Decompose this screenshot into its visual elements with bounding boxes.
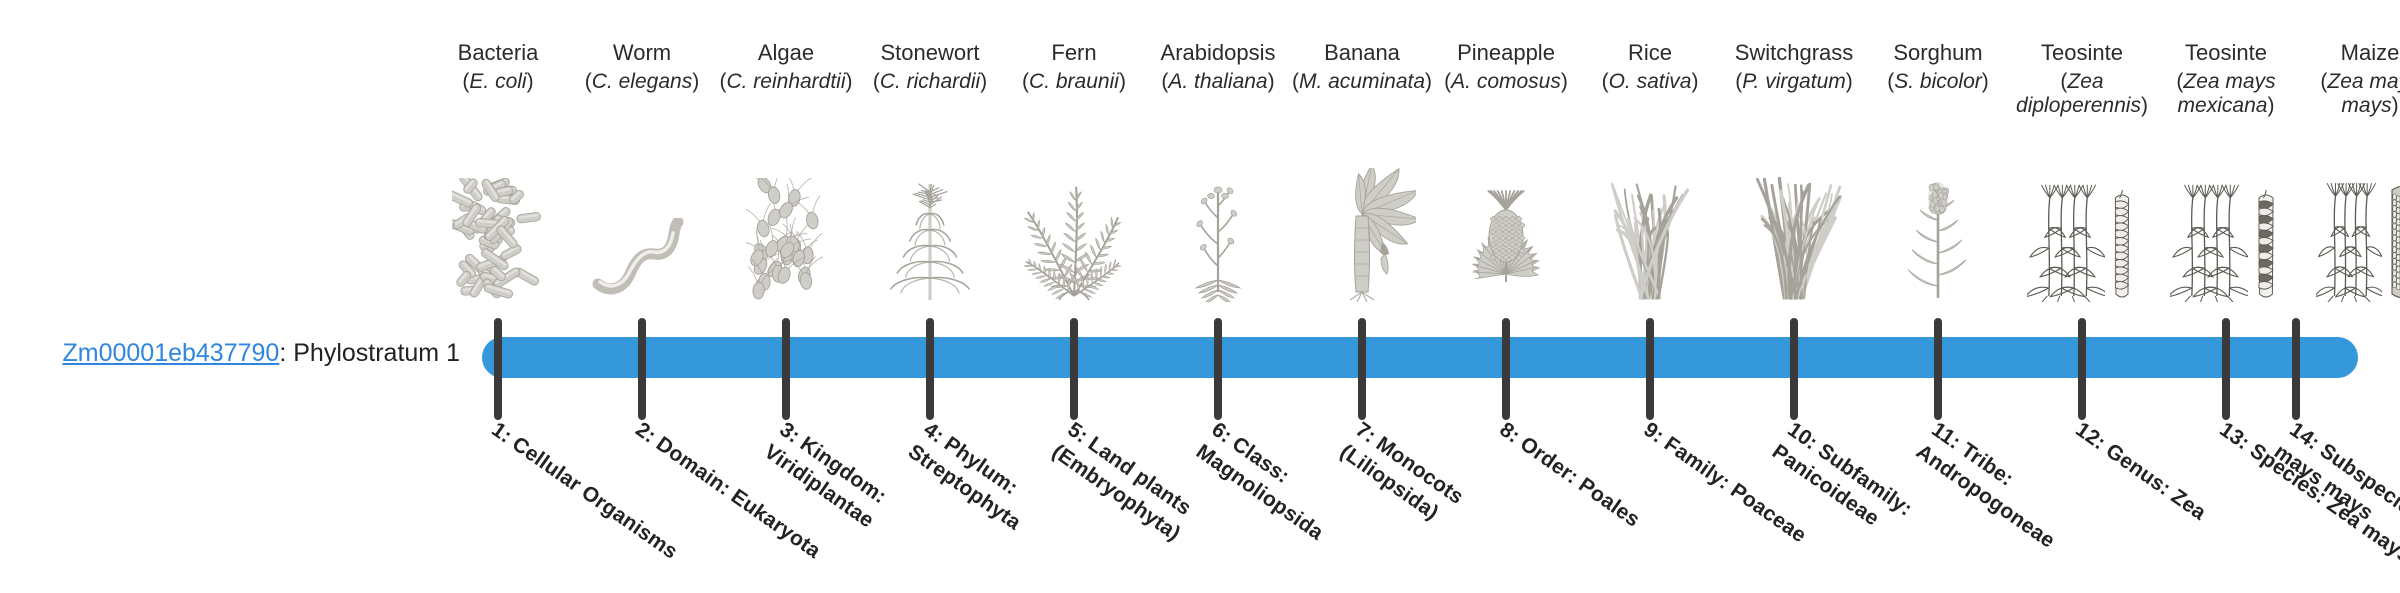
species-common-name: Maize bbox=[2298, 40, 2400, 65]
species-common-name: Pineapple bbox=[1434, 40, 1578, 65]
species-common-name: Switchgrass bbox=[1722, 40, 1866, 65]
species-scientific-name: (P. virgatum) bbox=[1722, 70, 1866, 94]
arabidopsis-rosette-icon bbox=[1146, 162, 1290, 302]
species-scientific-name-text: C. elegans bbox=[592, 70, 692, 93]
species-common-name: Stonewort bbox=[858, 40, 1002, 65]
species-scientific-name-text: S. bicolor bbox=[1894, 70, 1982, 93]
bacteria-rods-icon bbox=[426, 162, 570, 302]
stonewort-whorl-icon bbox=[858, 162, 1002, 302]
species-scientific-name-text: C. richardii bbox=[880, 70, 980, 93]
species-common-name: Worm bbox=[570, 40, 714, 65]
species-scientific-name-text: E. coli bbox=[469, 70, 526, 93]
timeline-node-9: Rice(O. sativa) bbox=[1578, 0, 1722, 580]
species-scientific-name: (C. richardii) bbox=[858, 70, 1002, 94]
species-scientific-name: (S. bicolor) bbox=[1866, 70, 2010, 94]
timeline-node-2: Worm(C. elegans) bbox=[570, 0, 714, 580]
species-scientific-name-text: Zea mays mexicana bbox=[2178, 70, 2276, 117]
timeline-node-13: Teosinte(Zea mays mexicana) bbox=[2154, 0, 2298, 580]
timeline-tick-4[interactable] bbox=[926, 318, 934, 420]
species-scientific-name: (O. sativa) bbox=[1578, 70, 1722, 94]
species-scientific-name-text: C. braunii bbox=[1029, 70, 1119, 93]
species-scientific-name: (C. elegans) bbox=[570, 70, 714, 94]
timeline-node-1: Bacteria(E. coli) bbox=[426, 0, 570, 580]
switchgrass-icon bbox=[1722, 162, 1866, 302]
timeline-tick-12[interactable] bbox=[2078, 318, 2086, 420]
timeline-tick-2[interactable] bbox=[638, 318, 646, 420]
timeline-tick-7[interactable] bbox=[1358, 318, 1366, 420]
species-scientific-name: (Zea diploperennis) bbox=[2010, 70, 2154, 118]
timeline-tick-14[interactable] bbox=[2292, 318, 2300, 420]
species-scientific-name: (Zea mays mays) bbox=[2298, 70, 2400, 118]
species-common-name: Rice bbox=[1578, 40, 1722, 65]
timeline-tick-13[interactable] bbox=[2222, 318, 2230, 420]
gene-label-separator: : bbox=[279, 339, 293, 367]
species-common-name: Sorghum bbox=[1866, 40, 2010, 65]
species-common-name: Arabidopsis bbox=[1146, 40, 1290, 65]
teosinte-plant-ear-icon bbox=[2010, 162, 2154, 302]
nematode-worm-icon bbox=[570, 162, 714, 302]
species-scientific-name: (A. comosus) bbox=[1434, 70, 1578, 94]
species-common-name: Fern bbox=[1002, 40, 1146, 65]
timeline-tick-6[interactable] bbox=[1214, 318, 1222, 420]
species-scientific-name-text: P. virgatum bbox=[1742, 70, 1846, 93]
species-scientific-name-text: Zea diploperennis bbox=[2016, 70, 2141, 117]
species-scientific-name-text: A. comosus bbox=[1451, 70, 1561, 93]
phylostratigraphy-diagram: Zm00001eb437790: Phylostratum 1 Bacteria… bbox=[0, 0, 2400, 580]
species-scientific-name-text: A. thaliana bbox=[1168, 70, 1267, 93]
species-scientific-name-text: M. acuminata bbox=[1299, 70, 1425, 93]
species-scientific-name: (C. braunii) bbox=[1002, 70, 1146, 94]
timeline-tick-5[interactable] bbox=[1070, 318, 1078, 420]
maize-plant-cob-icon bbox=[2298, 162, 2400, 302]
species-common-name: Algae bbox=[714, 40, 858, 65]
species-scientific-name: (C. reinhardtii) bbox=[714, 70, 858, 94]
green-algae-cells-icon bbox=[714, 162, 858, 302]
sorghum-plant-icon bbox=[1866, 162, 2010, 302]
timeline-tick-9[interactable] bbox=[1646, 318, 1654, 420]
fern-fronds-icon bbox=[1002, 162, 1146, 302]
species-common-name: Teosinte bbox=[2010, 40, 2154, 65]
banana-plant-icon bbox=[1290, 162, 1434, 302]
pineapple-plant-icon bbox=[1434, 162, 1578, 302]
species-scientific-name: (A. thaliana) bbox=[1146, 70, 1290, 94]
timeline-tick-3[interactable] bbox=[782, 318, 790, 420]
species-common-name: Teosinte bbox=[2154, 40, 2298, 65]
timeline-tick-8[interactable] bbox=[1502, 318, 1510, 420]
teosinte-mexicana-plant-ear-icon bbox=[2154, 162, 2298, 302]
species-scientific-name: (M. acuminata) bbox=[1290, 70, 1434, 94]
species-scientific-name-text: Zea mays mays bbox=[2327, 70, 2400, 117]
gene-phylostratum-label: Zm00001eb437790: Phylostratum 1 bbox=[40, 340, 460, 368]
timeline-node-8: Pineapple(A. comosus) bbox=[1434, 0, 1578, 580]
timeline-tick-1[interactable] bbox=[494, 318, 502, 420]
timeline-tick-11[interactable] bbox=[1934, 318, 1942, 420]
species-scientific-name: (E. coli) bbox=[426, 70, 570, 94]
species-common-name: Bacteria bbox=[426, 40, 570, 65]
rice-grass-icon bbox=[1578, 162, 1722, 302]
species-common-name: Banana bbox=[1290, 40, 1434, 65]
species-scientific-name: (Zea mays mexicana) bbox=[2154, 70, 2298, 118]
gene-id-link[interactable]: Zm00001eb437790 bbox=[62, 339, 279, 367]
timeline-tick-10[interactable] bbox=[1790, 318, 1798, 420]
species-scientific-name-text: O. sativa bbox=[1609, 70, 1692, 93]
timeline-node-12: Teosinte(Zea diploperennis) bbox=[2010, 0, 2154, 580]
species-scientific-name-text: C. reinhardtii bbox=[726, 70, 845, 93]
